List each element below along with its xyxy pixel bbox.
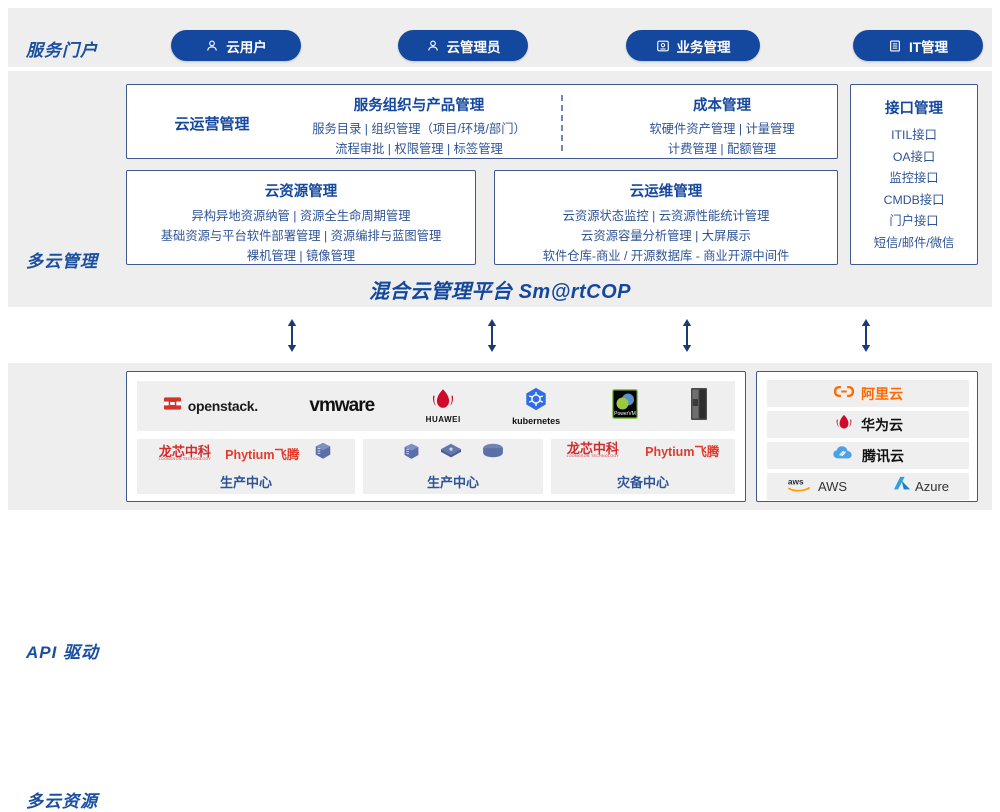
public-cloud-azure: Azure xyxy=(893,476,949,497)
section-label-api: API 驱动 xyxy=(26,638,99,663)
interface-item: 门户接口 xyxy=(851,211,977,233)
openstack-wordmark: openstack. xyxy=(188,398,258,414)
bidirectional-arrow-icon xyxy=(680,319,694,357)
loongson-subtext: LOONGSON TECHNOLOGY xyxy=(567,455,620,459)
public-cloud-panel: 阿里云 华为云 腾 xyxy=(756,371,978,502)
portal-button-label: 云用户 xyxy=(226,36,267,56)
public-cloud-label: Azure xyxy=(915,479,949,494)
section-label-management: 多云管理 xyxy=(26,247,98,272)
brand-loongson: 龙芯中科 LOONGSON TECHNOLOGY xyxy=(567,442,620,459)
cost-management-block: 成本管理 软硬件资产管理 | 计量管理 计费管理 | 配额管理 xyxy=(597,94,847,159)
card-line: 云资源状态监控 | 云资源性能统计管理 xyxy=(495,206,837,226)
logo-powervm: PowerVM xyxy=(612,389,638,424)
interface-item: ITIL接口 xyxy=(851,125,977,147)
card-line: 裸机管理 | 镜像管理 xyxy=(127,246,475,266)
vertical-dashed-divider xyxy=(561,95,563,151)
block-line: 软硬件资产管理 | 计量管理 xyxy=(597,119,847,139)
kubernetes-wordmark: kubernetes xyxy=(512,416,560,426)
svg-text:PowerVM: PowerVM xyxy=(614,411,636,417)
cloud-resource-management-card: 云资源管理 异构异地资源纳管 | 资源全生命周期管理 基础资源与平台软件部署管理… xyxy=(126,170,476,265)
business-icon xyxy=(656,39,670,53)
interface-management-card: 接口管理 ITIL接口 OA接口 监控接口 CMDB接口 门户接口 短信/邮件/… xyxy=(850,84,978,265)
public-cloud-label: 腾讯云 xyxy=(862,446,904,466)
it-icon xyxy=(888,39,902,53)
interface-item: 监控接口 xyxy=(851,168,977,190)
phytium-wordmark: Phytium飞腾 xyxy=(225,444,299,463)
datacenter-name: 灾备中心 xyxy=(551,472,735,491)
card-line: 云资源容量分析管理 | 大屏展示 xyxy=(495,226,837,246)
cloud-maintenance-management-card: 云运维管理 云资源状态监控 | 云资源性能统计管理 云资源容量分析管理 | 大屏… xyxy=(494,170,838,265)
aws-icon: aws xyxy=(787,476,813,498)
cloud-operation-side-label: 云运营管理 xyxy=(147,113,277,134)
block-title: 成本管理 xyxy=(597,94,847,115)
loongson-subtext: LOONGSON TECHNOLOGY xyxy=(159,458,212,462)
card-title: 云资源管理 xyxy=(127,180,475,201)
block-line: 计费管理 | 配额管理 xyxy=(597,139,847,159)
logo-openstack: openstack. xyxy=(163,394,258,418)
portal-button-label: 云管理员 xyxy=(447,36,501,56)
azure-icon xyxy=(893,476,911,497)
tencent-icon xyxy=(832,445,856,466)
logo-vmware: vmware xyxy=(309,395,374,417)
portal-button-label: IT管理 xyxy=(909,36,948,56)
portal-button-label: 业务管理 xyxy=(677,36,731,56)
platform-title: 混合云管理平台 Sm@rtCOP xyxy=(8,275,992,304)
public-cloud-label: 华为云 xyxy=(861,415,903,435)
block-line: 流程审批 | 权限管理 | 标签管理 xyxy=(279,139,559,159)
server-rack-icon xyxy=(689,408,709,425)
huawei-icon xyxy=(833,414,855,435)
public-cloud-huaweicloud: 华为云 xyxy=(767,411,969,438)
section-label-portal: 服务门户 xyxy=(26,36,98,61)
svg-text:aws: aws xyxy=(788,476,804,486)
brand-loongson: 龙芯中科 LOONGSON TECHNOLOGY xyxy=(159,445,212,462)
interface-item: CMDB接口 xyxy=(851,190,977,212)
architecture-diagram: 服务门户 云用户 云管理员 业务管理 IT管理 多云 xyxy=(0,0,1000,518)
aliyun-icon xyxy=(833,384,855,404)
interface-item: 短信/邮件/微信 xyxy=(851,233,977,255)
private-resources-panel: openstack. vmware HUAWE xyxy=(126,371,746,502)
server-icon xyxy=(402,442,421,466)
portal-button-it-mgmt[interactable]: IT管理 xyxy=(853,30,983,61)
datacenter-tile: 龙芯中科 LOONGSON TECHNOLOGY Phytium飞腾 生产中心 xyxy=(137,439,355,494)
card-title: 接口管理 xyxy=(851,97,977,118)
datacenter-tile: 生产中心 xyxy=(363,439,543,494)
block-line: 服务目录 | 组织管理（项目/环境/部门） xyxy=(279,119,559,139)
public-cloud-aliyun: 阿里云 xyxy=(767,380,969,407)
storage-icon xyxy=(481,442,505,465)
public-cloud-label: AWS xyxy=(818,479,847,494)
huawei-wordmark: HUAWEI xyxy=(426,415,461,424)
portal-button-business-mgmt[interactable]: 业务管理 xyxy=(626,30,760,61)
multicloud-management-section: 多云管理 云运营管理 服务组织与产品管理 服务目录 | 组织管理（项目/环境/部… xyxy=(8,71,992,307)
portal-button-cloud-user[interactable]: 云用户 xyxy=(171,30,301,61)
user-icon xyxy=(205,39,219,53)
block-title: 服务组织与产品管理 xyxy=(279,94,559,115)
openstack-icon xyxy=(163,394,182,418)
card-line: 软件仓库-商业 / 开源数据库 - 商业开源中间件 xyxy=(495,246,837,266)
portal-button-cloud-admin[interactable]: 云管理员 xyxy=(398,30,528,61)
card-line: 异构异地资源纳管 | 资源全生命周期管理 xyxy=(127,206,475,226)
multicloud-resources-section: 多云资源 openstack. vmware xyxy=(8,363,992,510)
card-title: 云运维管理 xyxy=(495,180,837,201)
datacenter-tile: 龙芯中科 LOONGSON TECHNOLOGY Phytium飞腾 灾备中心 xyxy=(551,439,735,494)
user-icon xyxy=(426,39,440,53)
virtualization-logo-tile: openstack. vmware HUAWE xyxy=(137,381,735,431)
card-line: 基础资源与平台软件部署管理 | 资源编排与蓝图管理 xyxy=(127,226,475,246)
logo-server-rack xyxy=(689,387,709,426)
vmware-wordmark: vmware xyxy=(309,395,374,416)
kubernetes-icon xyxy=(524,387,548,416)
service-product-management-block: 服务组织与产品管理 服务目录 | 组织管理（项目/环境/部门） 流程审批 | 权… xyxy=(279,94,559,159)
logo-kubernetes: kubernetes xyxy=(512,387,560,426)
logo-huawei: HUAWEI xyxy=(426,388,461,424)
service-portal-section: 服务门户 云用户 云管理员 业务管理 IT管理 xyxy=(8,8,992,67)
public-cloud-label: 阿里云 xyxy=(861,384,903,404)
api-driven-section: API 驱动 xyxy=(8,313,992,357)
public-cloud-aws: aws AWS xyxy=(787,476,847,498)
public-cloud-aws-azure-row: aws AWS Azure xyxy=(767,473,969,500)
interface-item: OA接口 xyxy=(851,147,977,169)
phytium-wordmark: Phytium飞腾 xyxy=(645,441,719,460)
cloud-operation-card: 云运营管理 服务组织与产品管理 服务目录 | 组织管理（项目/环境/部门） 流程… xyxy=(126,84,838,159)
server-icon xyxy=(313,441,333,466)
public-cloud-tencentcloud: 腾讯云 xyxy=(767,442,969,469)
datacenter-name: 生产中心 xyxy=(137,472,355,491)
bidirectional-arrow-icon xyxy=(859,319,873,357)
huawei-icon xyxy=(428,388,458,415)
powervm-icon: PowerVM xyxy=(612,406,638,423)
switch-icon xyxy=(439,441,463,466)
bidirectional-arrow-icon xyxy=(285,319,299,357)
section-label-resources: 多云资源 xyxy=(26,787,98,812)
bidirectional-arrow-icon xyxy=(485,319,499,357)
datacenter-name: 生产中心 xyxy=(363,472,543,491)
